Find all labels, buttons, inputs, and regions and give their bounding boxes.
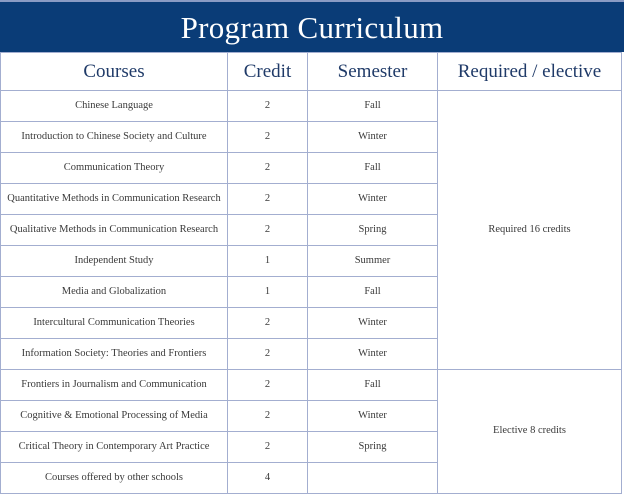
cell-credit: 1 — [228, 246, 308, 277]
cell-semester: Winter — [308, 401, 438, 432]
table-header-row: Courses Credit Semester Required / elect… — [1, 53, 622, 91]
cell-credit: 2 — [228, 184, 308, 215]
column-header-credit: Credit — [228, 53, 308, 91]
cell-semester: Fall — [308, 370, 438, 401]
cell-semester — [308, 463, 438, 494]
column-header-requirement: Required / elective — [438, 53, 622, 91]
cell-semester: Fall — [308, 153, 438, 184]
cell-semester: Spring — [308, 432, 438, 463]
cell-course: Critical Theory in Contemporary Art Prac… — [1, 432, 228, 463]
page-title: Program Curriculum — [181, 12, 444, 43]
cell-semester: Winter — [308, 184, 438, 215]
column-header-courses: Courses — [1, 53, 228, 91]
table-header: Courses Credit Semester Required / elect… — [1, 53, 622, 91]
curriculum-page: Program Curriculum Courses Credit Semest… — [0, 0, 624, 495]
table-row: Chinese Language2FallRequired 16 credits — [1, 91, 622, 122]
cell-requirement-group: Elective 8 credits — [438, 370, 622, 494]
cell-semester: Winter — [308, 339, 438, 370]
cell-credit: 2 — [228, 339, 308, 370]
cell-course: Information Society: Theories and Fronti… — [1, 339, 228, 370]
cell-course: Media and Globalization — [1, 277, 228, 308]
cell-course: Chinese Language — [1, 91, 228, 122]
cell-course: Intercultural Communication Theories — [1, 308, 228, 339]
cell-credit: 2 — [228, 432, 308, 463]
cell-course: Quantitative Methods in Communication Re… — [1, 184, 228, 215]
cell-credit: 2 — [228, 91, 308, 122]
cell-semester: Summer — [308, 246, 438, 277]
cell-course: Cognitive & Emotional Processing of Medi… — [1, 401, 228, 432]
cell-semester: Spring — [308, 215, 438, 246]
cell-course: Communication Theory — [1, 153, 228, 184]
cell-course: Introduction to Chinese Society and Cult… — [1, 122, 228, 153]
cell-credit: 2 — [228, 401, 308, 432]
cell-semester: Fall — [308, 91, 438, 122]
cell-credit: 4 — [228, 463, 308, 494]
column-header-semester: Semester — [308, 53, 438, 91]
cell-requirement-group: Required 16 credits — [438, 91, 622, 370]
cell-credit: 2 — [228, 370, 308, 401]
cell-course: Courses offered by other schools — [1, 463, 228, 494]
cell-semester: Winter — [308, 122, 438, 153]
cell-course: Frontiers in Journalism and Communicatio… — [1, 370, 228, 401]
cell-semester: Winter — [308, 308, 438, 339]
cell-course: Qualitative Methods in Communication Res… — [1, 215, 228, 246]
curriculum-table: Courses Credit Semester Required / elect… — [0, 52, 622, 494]
cell-course: Independent Study — [1, 246, 228, 277]
cell-semester: Fall — [308, 277, 438, 308]
cell-credit: 2 — [228, 122, 308, 153]
cell-credit: 2 — [228, 153, 308, 184]
table-body: Chinese Language2FallRequired 16 credits… — [1, 91, 622, 494]
cell-credit: 2 — [228, 308, 308, 339]
cell-credit: 2 — [228, 215, 308, 246]
table-row: Frontiers in Journalism and Communicatio… — [1, 370, 622, 401]
cell-credit: 1 — [228, 277, 308, 308]
page-title-banner: Program Curriculum — [0, 0, 624, 52]
